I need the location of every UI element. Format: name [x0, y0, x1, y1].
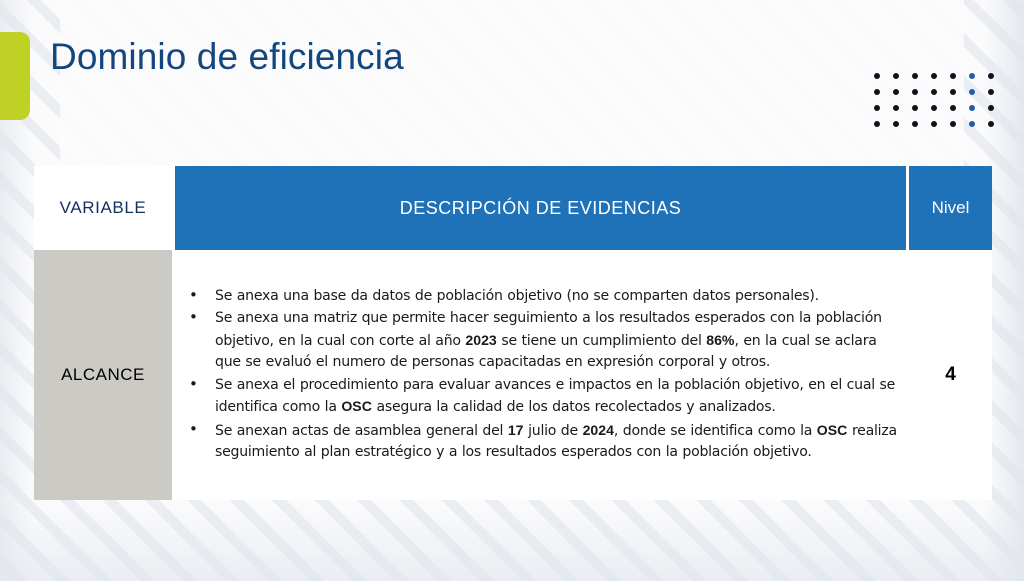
- decorative-dot: [988, 73, 994, 79]
- decorative-dot: [988, 89, 994, 95]
- decorative-dot: [893, 89, 899, 95]
- evidence-list-item: Se anexa una matriz que permite hacer se…: [175, 308, 906, 374]
- decorative-dot: [893, 105, 899, 111]
- decorative-dot: [874, 89, 880, 95]
- decorative-dot: [912, 89, 918, 95]
- decorative-dot: [988, 121, 994, 127]
- decorative-dot: [950, 89, 956, 95]
- background-title-wash: [60, 0, 964, 170]
- green-accent-bar: [0, 32, 30, 120]
- decorative-dot: [950, 73, 956, 79]
- decorative-dot: [931, 121, 937, 127]
- decorative-dot: [969, 89, 975, 95]
- header-cell-descripcion: DESCRIPCIÓN DE EVIDENCIAS: [172, 166, 909, 250]
- decorative-dot: [931, 105, 937, 111]
- header-cell-nivel: Nivel: [909, 166, 992, 250]
- evidence-list-item: Se anexan actas de asamblea general del …: [175, 420, 906, 464]
- emphasised-token: 17: [508, 422, 524, 438]
- decorative-dot: [912, 73, 918, 79]
- decorative-dot: [874, 73, 880, 79]
- decorative-dot: [893, 121, 899, 127]
- evidence-list-item: Se anexa el procedimiento para evaluar a…: [175, 375, 906, 419]
- decorative-dot: [950, 121, 956, 127]
- emphasised-token: 86%: [706, 332, 734, 348]
- emphasised-token: OSC: [817, 422, 848, 438]
- decorative-dot: [874, 121, 880, 127]
- cell-variable-alcance: ALCANCE: [34, 250, 172, 500]
- decorative-dot: [988, 105, 994, 111]
- emphasised-token: 2023: [465, 332, 496, 348]
- decorative-dot: [950, 105, 956, 111]
- emphasised-token: OSC: [341, 398, 372, 414]
- decorative-dot: [912, 105, 918, 111]
- decorative-dot: [969, 105, 975, 111]
- cell-nivel-value: 4: [909, 250, 992, 500]
- decorative-dot: [931, 89, 937, 95]
- decorative-dot: [874, 105, 880, 111]
- decorative-dot: [931, 73, 937, 79]
- table-header-row: VARIABLE DESCRIPCIÓN DE EVIDENCIAS Nivel: [34, 166, 992, 250]
- cell-descripcion-evidencias: Se anexa una base da datos de población …: [172, 250, 909, 500]
- slide-canvas: Dominio de eficiencia VARIABLE DESCRIPCI…: [0, 0, 1024, 581]
- decorative-dot: [969, 73, 975, 79]
- page-title: Dominio de eficiencia: [50, 36, 404, 78]
- decorative-dot: [893, 73, 899, 79]
- emphasised-token: 2024: [583, 422, 614, 438]
- evidence-list-item: Se anexa una base da datos de población …: [175, 286, 906, 308]
- decorative-dot: [969, 121, 975, 127]
- background-edge-bottom: [0, 501, 1024, 581]
- decorative-dot: [912, 121, 918, 127]
- dot-grid-decoration: [874, 73, 1007, 137]
- table-row: ALCANCE Se anexa una base da datos de po…: [34, 250, 992, 500]
- header-cell-variable: VARIABLE: [34, 166, 172, 250]
- evidence-table: VARIABLE DESCRIPCIÓN DE EVIDENCIAS Nivel…: [34, 166, 992, 500]
- evidence-bullet-list: Se anexa una base da datos de población …: [175, 286, 906, 464]
